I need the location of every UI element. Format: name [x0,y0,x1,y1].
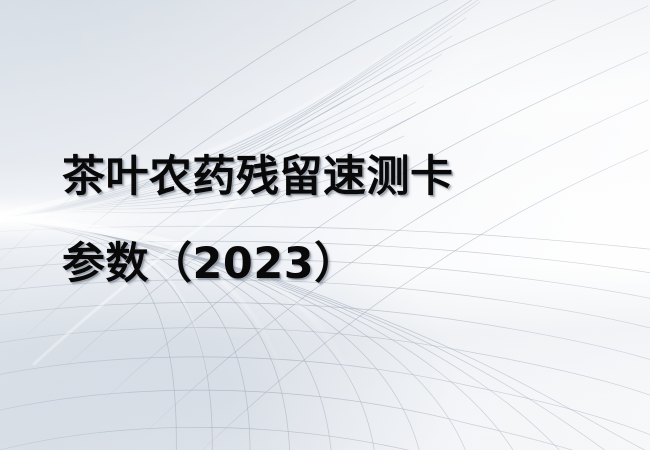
slide-title: 茶叶农药残留速测卡 参数（2023） [62,134,622,308]
title-line-2: 参数（2023） [62,221,622,308]
title-slide: 茶叶农药残留速测卡 参数（2023） [0,0,650,450]
title-line-1: 茶叶农药残留速测卡 [62,134,622,221]
